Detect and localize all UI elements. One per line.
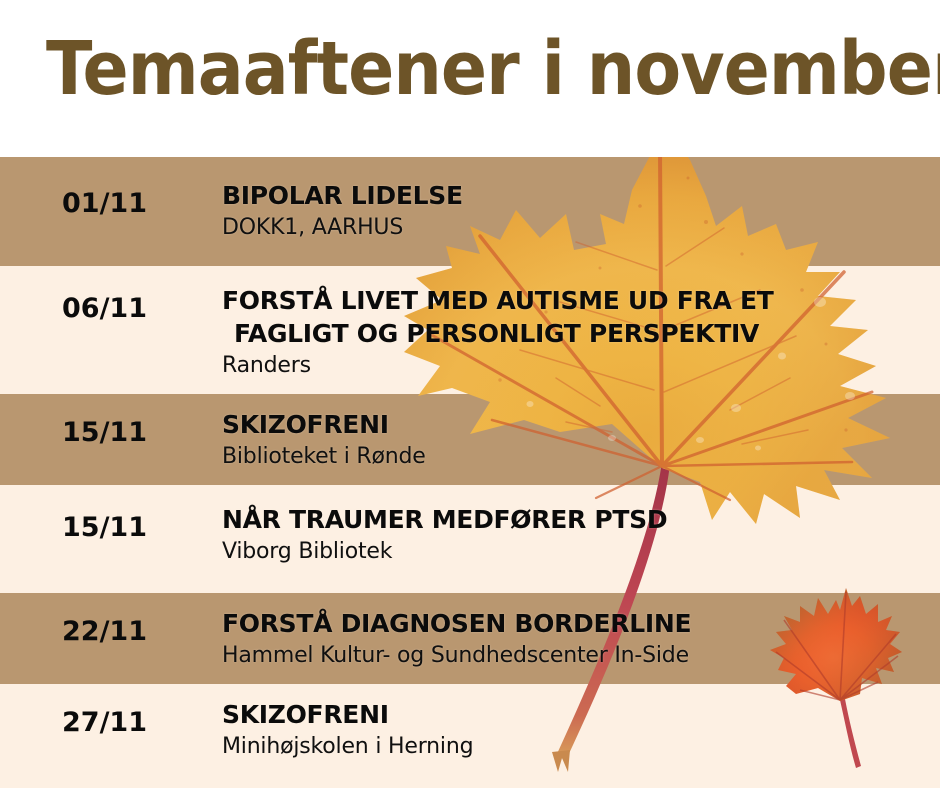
event-row[interactable]: 15/11NÅR TRAUMER MEDFØRER PTSDViborg Bib… <box>0 485 940 593</box>
title-band: Temaaftener i november <box>0 0 940 157</box>
event-date: 27/11 <box>62 708 147 738</box>
event-row[interactable]: 01/11BIPOLAR LIDELSEDOKK1, AARHUS <box>0 157 940 266</box>
event-title: SKIZOFRENI <box>222 698 930 731</box>
poster-canvas: Temaaftener i november 01/11BIPOLAR LIDE… <box>0 0 940 788</box>
event-title-line1: SKIZOFRENI <box>222 700 389 729</box>
event-date: 22/11 <box>62 617 147 647</box>
event-row[interactable]: 06/11FORSTÅ LIVET MED AUTISME UD FRA ETF… <box>0 266 940 394</box>
event-title-line1: FORSTÅ LIVET MED AUTISME UD FRA ET <box>222 286 773 315</box>
event-venue: Randers <box>222 351 930 381</box>
event-title-line1: BIPOLAR LIDELSE <box>222 181 463 210</box>
event-title-line1: SKIZOFRENI <box>222 410 389 439</box>
event-body: FORSTÅ LIVET MED AUTISME UD FRA ETFAGLIG… <box>222 284 930 381</box>
event-row[interactable]: 22/11FORSTÅ DIAGNOSEN BORDERLINEHammel K… <box>0 593 940 684</box>
event-venue: Minihøjskolen i Herning <box>222 732 930 762</box>
event-body: BIPOLAR LIDELSEDOKK1, AARHUS <box>222 179 930 243</box>
event-row[interactable]: 27/11SKIZOFRENIMinihøjskolen i Herning <box>0 684 940 788</box>
event-body: SKIZOFRENIBiblioteket i Rønde <box>222 408 930 472</box>
event-title: BIPOLAR LIDELSE <box>222 179 930 212</box>
event-title: NÅR TRAUMER MEDFØRER PTSD <box>222 503 930 536</box>
event-title-line1: NÅR TRAUMER MEDFØRER PTSD <box>222 505 667 534</box>
event-row[interactable]: 15/11SKIZOFRENIBiblioteket i Rønde <box>0 394 940 485</box>
event-date: 06/11 <box>62 294 147 324</box>
event-title: FORSTÅ DIAGNOSEN BORDERLINE <box>222 607 930 640</box>
event-body: SKIZOFRENIMinihøjskolen i Herning <box>222 698 930 762</box>
event-title: FORSTÅ LIVET MED AUTISME UD FRA ETFAGLIG… <box>222 284 930 350</box>
page-title: Temaaftener i november <box>46 26 940 112</box>
event-date: 01/11 <box>62 189 147 219</box>
event-venue: Hammel Kultur- og Sundhedscenter In-Side <box>222 641 930 671</box>
event-title: SKIZOFRENI <box>222 408 930 441</box>
event-date: 15/11 <box>62 418 147 448</box>
event-venue: DOKK1, AARHUS <box>222 213 930 243</box>
event-title-line1: FORSTÅ DIAGNOSEN BORDERLINE <box>222 609 691 638</box>
event-title-line2: FAGLIGT OG PERSONLIGT PERSPEKTIV <box>222 317 930 350</box>
event-venue: Biblioteket i Rønde <box>222 442 930 472</box>
event-body: NÅR TRAUMER MEDFØRER PTSDViborg Bibliote… <box>222 503 930 567</box>
event-venue: Viborg Bibliotek <box>222 537 930 567</box>
event-date: 15/11 <box>62 513 147 543</box>
event-body: FORSTÅ DIAGNOSEN BORDERLINEHammel Kultur… <box>222 607 930 671</box>
